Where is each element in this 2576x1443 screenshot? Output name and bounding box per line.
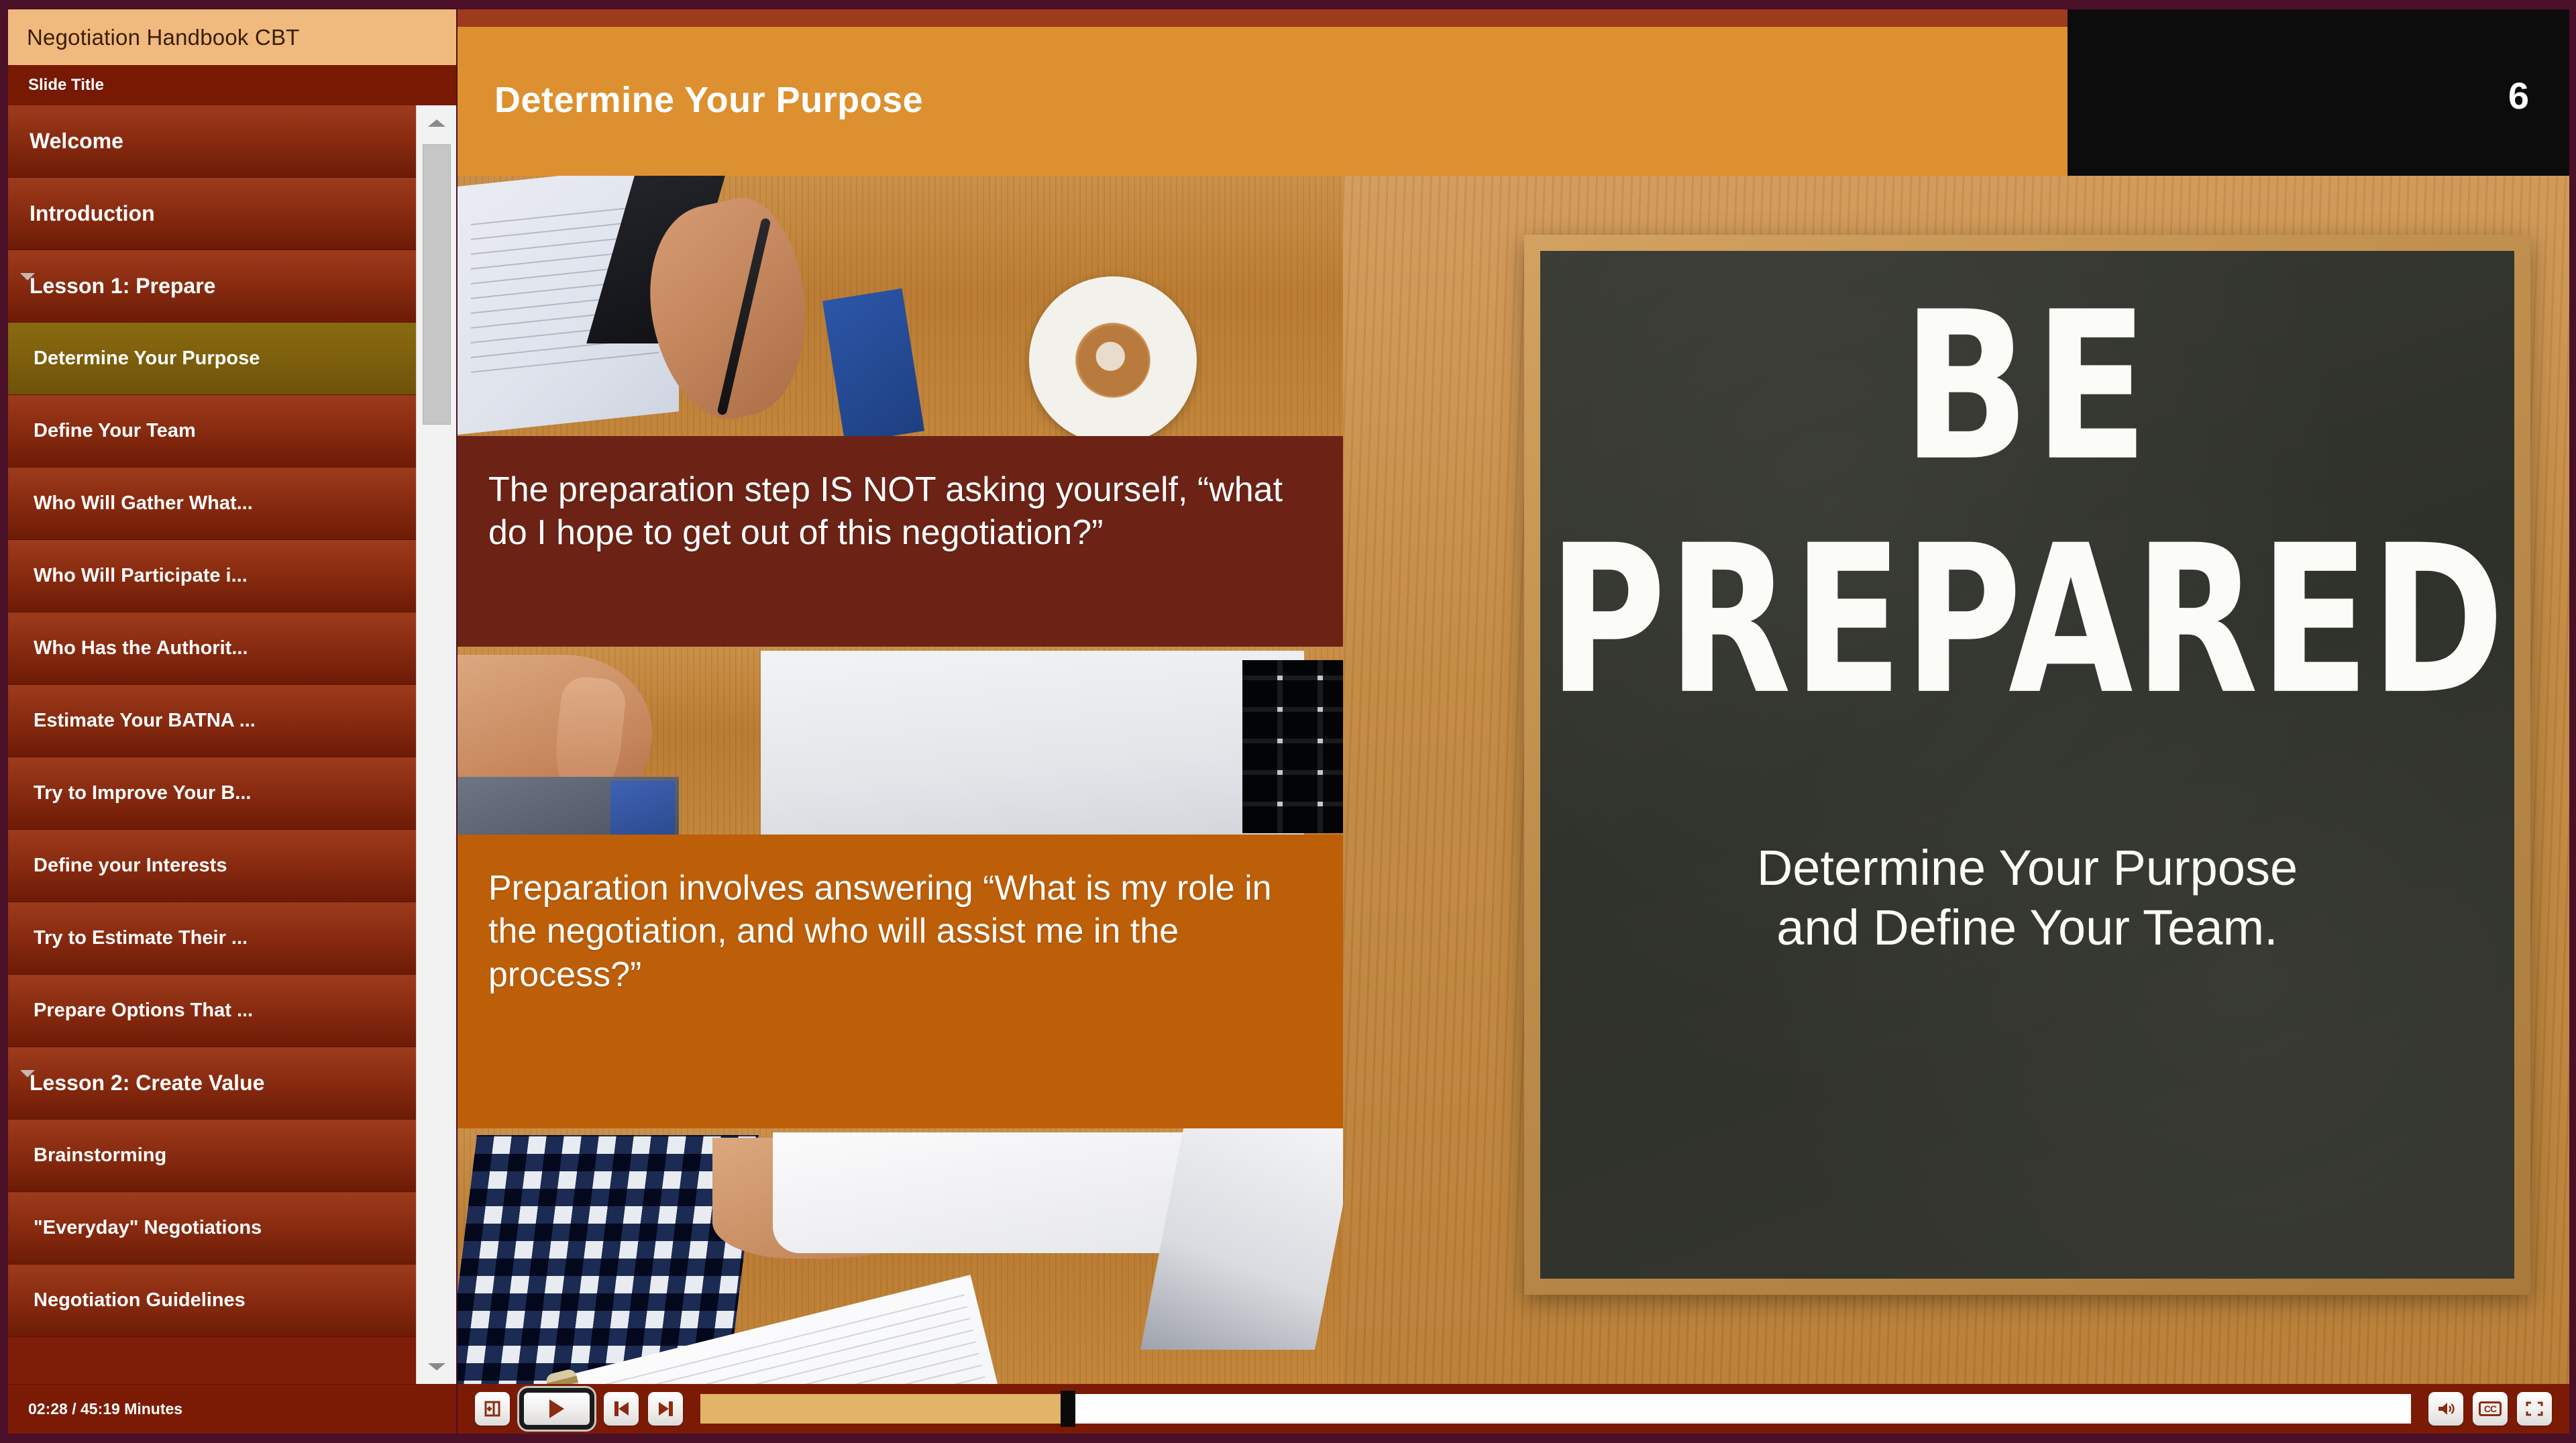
outline-item-label: Welcome: [30, 129, 123, 154]
chalkboard-wood-frame: BE PREPARED Determine Your Purposeand De…: [1524, 235, 2530, 1295]
coffee-cup: [1029, 276, 1197, 444]
outline-item-label: Negotiation Guidelines: [34, 1289, 246, 1312]
desk-photo-writing: [458, 176, 1343, 437]
slide-number-badge: 6: [2508, 74, 2529, 117]
outline-item[interactable]: Prepare Options That ...: [8, 975, 416, 1047]
laptop-keyboard: [1242, 660, 1343, 833]
header-black-shape: [2068, 9, 2569, 176]
slide-title-column-header: Slide Title: [8, 65, 456, 105]
elapsed-time-display: 02:28 / 45:19 Minutes: [8, 1384, 456, 1434]
outline-item-label: Lesson 2: Create Value: [30, 1071, 264, 1095]
chalkboard-subtitle: Determine Your Purposeand Define Your Te…: [1757, 839, 2298, 958]
collapse-caret-icon[interactable]: [20, 1070, 35, 1077]
outline-item[interactable]: Who Will Gather What...: [8, 468, 416, 540]
player-control-bar: CC: [458, 1384, 2569, 1434]
calculator: [458, 777, 679, 839]
outline-item[interactable]: Welcome: [8, 105, 416, 178]
seekbar[interactable]: [700, 1394, 2411, 1424]
sidebar-toggle-icon[interactable]: [475, 1392, 510, 1426]
outline-item[interactable]: Brainstorming: [8, 1120, 416, 1192]
outline-item-label: Estimate Your BATNA ...: [34, 710, 256, 732]
scrollbar-thumb[interactable]: [423, 144, 451, 425]
scroll-up-arrow-icon[interactable]: [417, 105, 456, 140]
next-icon: [659, 1402, 669, 1415]
outline-item-label: Determine Your Purpose: [34, 348, 260, 370]
desk-photo-notebook: [458, 1128, 1343, 1384]
outline-item[interactable]: Try to Estimate Their ...: [8, 902, 416, 975]
chalkboard-area: BE PREPARED Determine Your Purposeand De…: [1343, 176, 2569, 1384]
chalkboard-surface: BE PREPARED Determine Your Purposeand De…: [1540, 251, 2514, 1279]
outline-item[interactable]: Negotiation Guidelines: [8, 1265, 416, 1337]
play-icon: [549, 1399, 564, 1418]
scroll-down-arrow-icon[interactable]: [417, 1349, 456, 1384]
outline-item-label: Who Has the Authorit...: [34, 637, 248, 659]
outline-item[interactable]: Estimate Your BATNA ...: [8, 685, 416, 757]
fullscreen-button[interactable]: [2517, 1392, 2552, 1426]
sidebar: Negotiation Handbook CBT Slide Title Wel…: [8, 9, 456, 1434]
cc-icon: CC: [2479, 1401, 2502, 1416]
outline-navigation: WelcomeIntroductionLesson 1: PrepareDete…: [8, 105, 456, 1384]
outline-item-label: Who Will Participate i...: [34, 565, 248, 587]
slide-heading: Determine Your Purpose: [494, 79, 923, 121]
chalkboard-line-2: PREPARED: [1548, 527, 2506, 715]
outline-item-label: Define your Interests: [34, 855, 227, 877]
slide-stage: Determine Your Purpose 6: [458, 9, 2569, 1434]
course-player: Negotiation Handbook CBT Slide Title Wel…: [0, 0, 2576, 1443]
seekbar-handle[interactable]: [1061, 1391, 1075, 1427]
outline-item-label: Brainstorming: [34, 1144, 166, 1167]
outline-item[interactable]: Define Your Team: [8, 395, 416, 468]
outline-item-label: Define Your Team: [34, 420, 196, 442]
outline-scrollbar[interactable]: [416, 105, 456, 1384]
white-keyboard: [773, 1132, 1189, 1253]
course-title: Negotiation Handbook CBT: [8, 9, 456, 65]
outline-item[interactable]: "Everyday" Negotiations: [8, 1192, 416, 1265]
outline-item-label: Try to Improve Your B...: [34, 782, 251, 804]
outline-item-label: Try to Estimate Their ...: [34, 927, 248, 949]
slide-content: The preparation step IS NOT asking yours…: [458, 176, 2569, 1384]
outline-item-label: "Everyday" Negotiations: [34, 1217, 262, 1239]
previous-button[interactable]: [604, 1392, 639, 1426]
outline-item-label: Lesson 1: Prepare: [30, 274, 215, 299]
outline-item[interactable]: Who Will Participate i...: [8, 540, 416, 612]
outline-item[interactable]: Lesson 1: Prepare: [8, 250, 416, 323]
outline-item-label: Who Will Gather What...: [34, 492, 253, 515]
outline-item-label: Introduction: [30, 201, 155, 226]
slide-header-banner: Determine Your Purpose 6: [458, 9, 2569, 176]
play-button[interactable]: [519, 1388, 594, 1430]
next-button[interactable]: [648, 1392, 683, 1426]
desk-photo-calculator: [458, 645, 1343, 837]
collapse-caret-icon[interactable]: [20, 273, 35, 280]
outline-item[interactable]: Define your Interests: [8, 830, 416, 902]
chalkboard-line-1: BE: [1902, 293, 2152, 482]
closed-captions-button[interactable]: CC: [2473, 1392, 2508, 1426]
outline-item-label: Prepare Options That ...: [34, 1000, 253, 1022]
outline-item[interactable]: Try to Improve Your B...: [8, 757, 416, 830]
callout-box-secondary: Preparation involves answering “What is …: [458, 835, 1343, 1128]
volume-button[interactable]: [2428, 1392, 2463, 1426]
blue-clipboard: [822, 288, 924, 443]
photo-column: The preparation step IS NOT asking yours…: [458, 176, 1343, 1384]
outline-item[interactable]: Determine Your Purpose: [8, 323, 416, 395]
outline-item[interactable]: Introduction: [8, 178, 416, 250]
outline-item[interactable]: Who Has the Authorit...: [8, 612, 416, 685]
outline-list: WelcomeIntroductionLesson 1: PrepareDete…: [8, 105, 416, 1384]
callout-box-primary: The preparation step IS NOT asking yours…: [458, 436, 1343, 647]
eyeglasses: [1044, 1375, 1198, 1384]
outline-item[interactable]: Lesson 2: Create Value: [8, 1047, 416, 1120]
seekbar-progress-fill: [700, 1394, 1068, 1424]
laptop: [761, 651, 1304, 837]
